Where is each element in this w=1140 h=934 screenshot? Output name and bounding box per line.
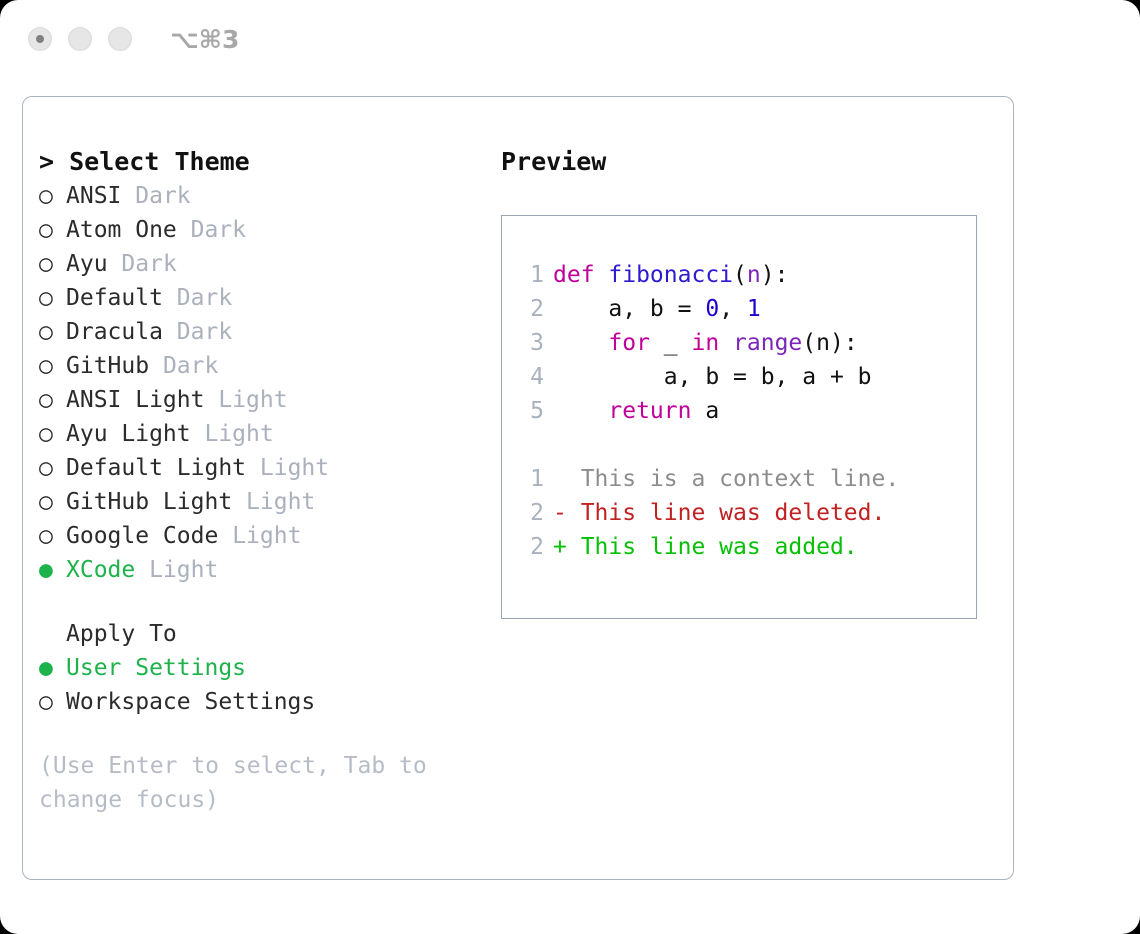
theme-option-spacer <box>177 217 191 243</box>
theme-option-google-code[interactable]: ○Google Code Light <box>39 519 469 553</box>
code-preview-box: 1def fibonacci(n):2 a, b = 0, 13 for _ i… <box>501 215 977 619</box>
theme-option-spacer <box>121 183 135 209</box>
code-line: 2+ This line was added. <box>518 530 976 564</box>
code-line-number: 5 <box>518 394 544 428</box>
preview-column: Preview 1def fibonacci(n):2 a, b = 0, 13… <box>501 145 991 619</box>
code-line: 1def fibonacci(n): <box>518 258 976 292</box>
theme-option-name: Default Light <box>66 455 246 481</box>
theme-option-variant: Dark <box>177 285 232 311</box>
code-token: a, b = <box>553 296 705 322</box>
code-line-number: 1 <box>518 462 544 496</box>
code-token: ( <box>733 262 747 288</box>
code-token: 0 <box>705 296 719 322</box>
code-line-number: 3 <box>518 326 544 360</box>
code-token: a, b = b, a + b <box>553 364 872 390</box>
code-line-number: 1 <box>518 258 544 292</box>
theme-option-variant: Dark <box>135 183 190 209</box>
apply-to-option-workspace-settings[interactable]: ○Workspace Settings <box>39 685 469 719</box>
code-token <box>553 330 608 356</box>
code-line-number: 2 <box>518 292 544 326</box>
theme-option-ansi[interactable]: ○ANSI Dark <box>39 179 469 213</box>
theme-option-variant: Light <box>232 523 301 549</box>
keyboard-hint-text: (Use Enter to select, Tab to change focu… <box>39 749 439 817</box>
theme-option-name: ANSI <box>66 183 121 209</box>
code-token <box>553 398 608 424</box>
theme-option-ansi-light[interactable]: ○ANSI Light Light <box>39 383 469 417</box>
theme-option-variant: Dark <box>177 319 232 345</box>
radio-selected-icon: ● <box>39 651 66 685</box>
code-line: 4 a, b = b, a + b <box>518 360 976 394</box>
code-line: 3 for _ in range(n): <box>518 326 976 360</box>
apply-to-option-label: User Settings <box>66 655 246 681</box>
apply-to-section: Apply To ●User Settings○Workspace Settin… <box>39 617 469 719</box>
theme-option-name: Dracula <box>66 319 163 345</box>
radio-unselected-icon: ○ <box>39 417 66 451</box>
theme-option-variant: Dark <box>163 353 218 379</box>
code-token <box>719 330 733 356</box>
code-token: a <box>691 398 719 424</box>
code-line: 2 a, b = 0, 1 <box>518 292 976 326</box>
theme-option-spacer <box>191 421 205 447</box>
app-window: ⌥⌘3 > Select Theme ○ANSI Dark○Atom One D… <box>0 0 1140 934</box>
apply-to-option-label: Workspace Settings <box>66 689 315 715</box>
radio-unselected-icon: ○ <box>39 685 66 719</box>
theme-option-spacer <box>149 353 163 379</box>
theme-option-name: Default <box>66 285 163 311</box>
code-token: 1 <box>747 296 761 322</box>
theme-option-xcode[interactable]: ●XCode Light <box>39 553 469 587</box>
radio-unselected-icon: ○ <box>39 247 66 281</box>
code-token: _ <box>650 330 692 356</box>
theme-option-variant: Light <box>149 557 218 583</box>
theme-option-name: Ayu <box>66 251 108 277</box>
window-dot-active-indicator <box>36 35 44 43</box>
theme-option-spacer <box>108 251 122 277</box>
keyboard-shortcut-label: ⌥⌘3 <box>170 25 239 54</box>
radio-unselected-icon: ○ <box>39 349 66 383</box>
code-line-number: 4 <box>518 360 544 394</box>
code-token: def <box>553 262 608 288</box>
radio-unselected-icon: ○ <box>39 383 66 417</box>
theme-option-atom-one[interactable]: ○Atom One Dark <box>39 213 469 247</box>
theme-option-variant: Dark <box>191 217 246 243</box>
theme-option-list: ○ANSI Dark○Atom One Dark○Ayu Dark○Defaul… <box>39 179 469 587</box>
title-bar: ⌥⌘3 <box>0 0 1140 78</box>
code-token: range <box>733 330 802 356</box>
code-token: - This line was deleted. <box>553 500 885 526</box>
code-token: in <box>691 330 719 356</box>
theme-option-variant: Light <box>204 421 273 447</box>
radio-unselected-icon: ○ <box>39 281 66 315</box>
theme-option-name: XCode <box>66 557 135 583</box>
code-line: 2- This line was deleted. <box>518 496 976 530</box>
theme-option-spacer <box>246 455 260 481</box>
theme-option-ayu-light[interactable]: ○Ayu Light Light <box>39 417 469 451</box>
theme-option-spacer <box>163 319 177 345</box>
window-dot-active[interactable] <box>28 27 52 51</box>
radio-unselected-icon: ○ <box>39 519 66 553</box>
theme-option-variant: Dark <box>121 251 176 277</box>
radio-unselected-icon: ○ <box>39 315 66 349</box>
radio-unselected-icon: ○ <box>39 179 66 213</box>
select-theme-header: > Select Theme <box>39 145 469 179</box>
theme-option-name: Ayu Light <box>66 421 191 447</box>
code-token <box>553 432 567 458</box>
theme-option-variant: Light <box>246 489 315 515</box>
theme-option-name: Google Code <box>66 523 218 549</box>
code-token: fibonacci <box>608 262 733 288</box>
code-token: n <box>747 262 761 288</box>
theme-option-spacer <box>204 387 218 413</box>
theme-option-name: Atom One <box>66 217 177 243</box>
theme-option-default[interactable]: ○Default Dark <box>39 281 469 315</box>
code-token: ): <box>830 330 858 356</box>
code-token: return <box>608 398 691 424</box>
code-token: , <box>719 296 747 322</box>
apply-to-option-user-settings[interactable]: ●User Settings <box>39 651 469 685</box>
window-dot-3[interactable] <box>108 27 132 51</box>
theme-option-spacer <box>135 557 149 583</box>
radio-unselected-icon: ○ <box>39 213 66 247</box>
theme-option-name: GitHub Light <box>66 489 232 515</box>
code-line: 1 This is a context line. <box>518 462 976 496</box>
theme-option-dracula[interactable]: ○Dracula Dark <box>39 315 469 349</box>
code-line <box>518 428 976 462</box>
theme-option-spacer <box>163 285 177 311</box>
code-token: + This line was added. <box>553 534 858 560</box>
theme-option-ayu[interactable]: ○Ayu Dark <box>39 247 469 281</box>
code-line: 5 return a <box>518 394 976 428</box>
radio-unselected-icon: ○ <box>39 485 66 519</box>
apply-to-option-list: ●User Settings○Workspace Settings <box>39 651 469 719</box>
preview-title: Preview <box>501 145 991 179</box>
window-dot-2[interactable] <box>68 27 92 51</box>
code-token: ): <box>761 262 789 288</box>
theme-option-github[interactable]: ○GitHub Dark <box>39 349 469 383</box>
theme-option-spacer <box>232 489 246 515</box>
code-line-number: 2 <box>518 530 544 564</box>
code-token: n <box>816 330 830 356</box>
radio-selected-icon: ● <box>39 553 66 587</box>
theme-selection-column: > Select Theme ○ANSI Dark○Atom One Dark○… <box>39 145 469 817</box>
main-panel: > Select Theme ○ANSI Dark○Atom One Dark○… <box>22 96 1014 880</box>
code-token: This is a context line. <box>553 466 899 492</box>
theme-option-github-light[interactable]: ○GitHub Light Light <box>39 485 469 519</box>
radio-unselected-icon: ○ <box>39 451 66 485</box>
theme-option-variant: Light <box>260 455 329 481</box>
apply-to-header-label: Apply To <box>66 621 177 647</box>
code-token: for <box>608 330 650 356</box>
theme-option-variant: Light <box>218 387 287 413</box>
code-line-number: 2 <box>518 496 544 530</box>
theme-option-name: ANSI Light <box>66 387 204 413</box>
theme-option-spacer <box>218 523 232 549</box>
code-token: ( <box>802 330 816 356</box>
theme-option-default-light[interactable]: ○Default Light Light <box>39 451 469 485</box>
apply-to-header: Apply To <box>39 617 469 651</box>
theme-option-name: GitHub <box>66 353 149 379</box>
